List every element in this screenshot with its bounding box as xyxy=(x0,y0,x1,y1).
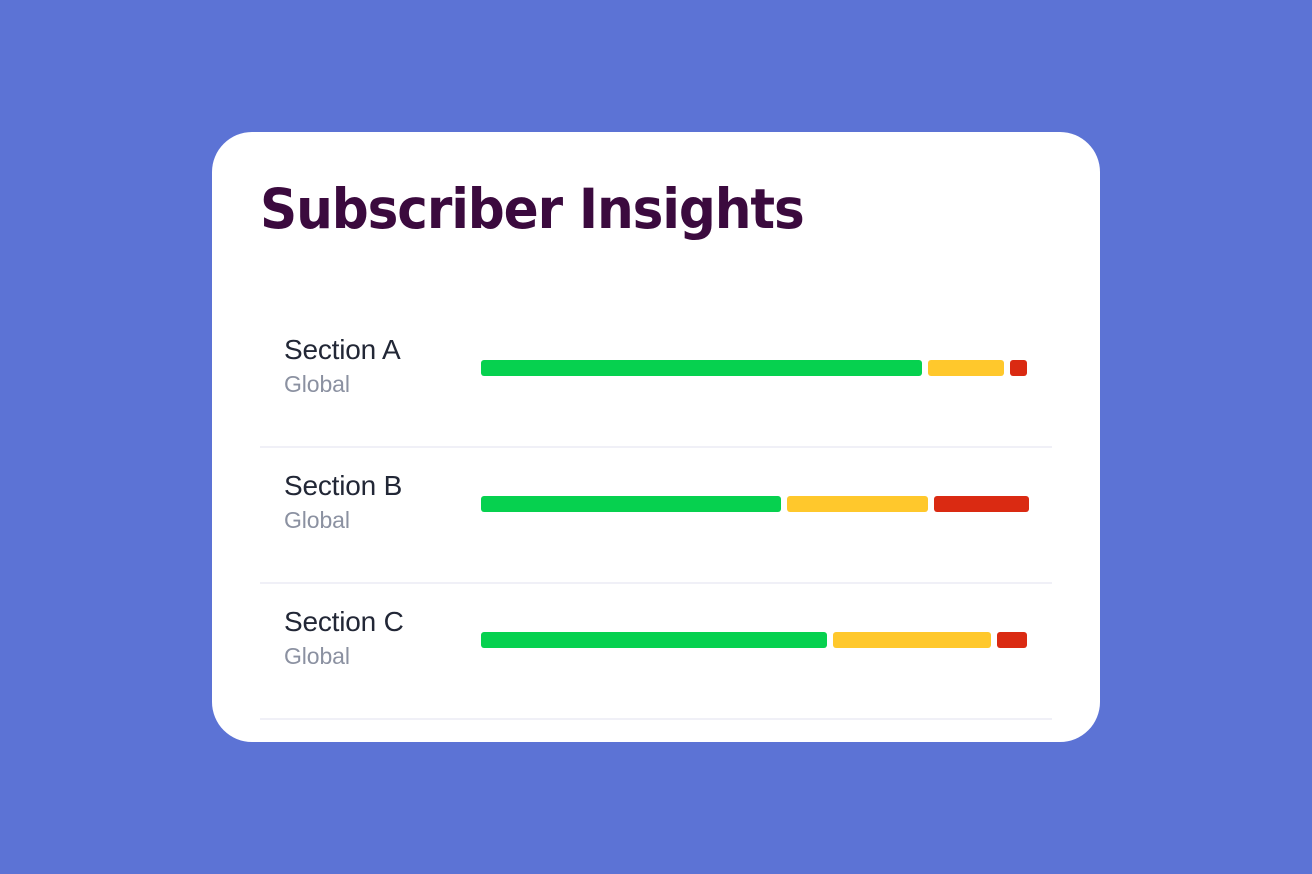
green-segment xyxy=(481,360,922,376)
red-segment xyxy=(997,632,1027,648)
section-label-group: Section A Global xyxy=(284,332,484,399)
list-item[interactable]: Section B Global xyxy=(260,448,1052,584)
stacked-bar xyxy=(481,632,1028,648)
section-title: Section A xyxy=(284,332,484,369)
red-segment xyxy=(934,496,1029,512)
section-list: Section A Global Section B Global Sectio… xyxy=(260,312,1052,720)
red-segment xyxy=(1010,360,1027,376)
list-item[interactable]: Section C Global xyxy=(260,584,1052,720)
green-segment xyxy=(481,632,827,648)
bar-segment-gap xyxy=(781,496,787,512)
section-title: Section B xyxy=(284,468,484,505)
yellow-segment xyxy=(833,632,991,648)
stacked-bar xyxy=(481,360,1028,376)
insights-card: Subscriber Insights Section A Global Sec… xyxy=(212,132,1100,742)
bar-segment-gap xyxy=(922,360,928,376)
yellow-segment xyxy=(787,496,928,512)
list-item[interactable]: Section A Global xyxy=(260,312,1052,448)
section-subtitle: Global xyxy=(284,641,484,671)
section-title: Section C xyxy=(284,604,484,641)
section-subtitle: Global xyxy=(284,505,484,535)
green-segment xyxy=(481,496,781,512)
app-background: Subscriber Insights Section A Global Sec… xyxy=(0,0,1312,874)
bar-segment-gap xyxy=(928,496,934,512)
yellow-segment xyxy=(928,360,1004,376)
section-subtitle: Global xyxy=(284,369,484,399)
section-label-group: Section C Global xyxy=(284,604,484,671)
page-title: Subscriber Insights xyxy=(260,182,804,237)
section-label-group: Section B Global xyxy=(284,468,484,535)
stacked-bar xyxy=(481,496,1028,512)
